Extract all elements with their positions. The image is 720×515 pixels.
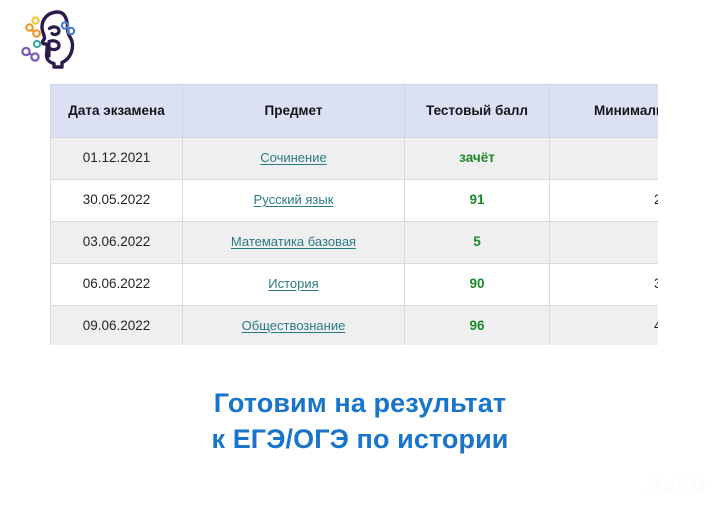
brand-logo bbox=[16, 6, 100, 72]
cell-min-score: 42 bbox=[550, 306, 659, 346]
subject-link[interactable]: Математика базовая bbox=[231, 234, 356, 249]
table-row: 03.06.2022 Математика базовая 5 3 bbox=[51, 222, 659, 264]
cell-subject[interactable]: Обществознание bbox=[183, 306, 405, 346]
column-header-subject: Предмет bbox=[183, 85, 405, 138]
column-header-test-score: Тестовый балл bbox=[405, 85, 550, 138]
cell-date: 09.06.2022 bbox=[51, 306, 183, 346]
promo-headline: Готовим на результат к ЕГЭ/ОГЭ по истори… bbox=[0, 386, 720, 457]
cell-test-score: 96 bbox=[405, 306, 550, 346]
promo-headline-line-2: к ЕГЭ/ОГЭ по истории bbox=[0, 422, 720, 458]
table-row: 01.12.2021 Сочинение зачёт bbox=[51, 138, 659, 180]
subject-link[interactable]: Русский язык bbox=[254, 192, 334, 207]
table-header-row: Дата экзамена Предмет Тестовый балл Мини… bbox=[51, 85, 659, 138]
subject-link[interactable]: История bbox=[268, 276, 318, 291]
cell-date: 30.05.2022 bbox=[51, 180, 183, 222]
avito-watermark-text: Avito bbox=[644, 468, 706, 499]
cell-date: 06.06.2022 bbox=[51, 264, 183, 306]
cell-min-score bbox=[550, 138, 659, 180]
table-row: 30.05.2022 Русский язык 91 24 bbox=[51, 180, 659, 222]
cell-subject[interactable]: Сочинение bbox=[183, 138, 405, 180]
cell-test-score: 90 bbox=[405, 264, 550, 306]
cell-subject[interactable]: Русский язык bbox=[183, 180, 405, 222]
cell-date: 01.12.2021 bbox=[51, 138, 183, 180]
cell-test-score: 5 bbox=[405, 222, 550, 264]
avito-logo-icon bbox=[610, 471, 640, 497]
cell-min-score: 32 bbox=[550, 264, 659, 306]
subject-link[interactable]: Обществознание bbox=[242, 318, 346, 333]
cell-min-score: 3 bbox=[550, 222, 659, 264]
exam-results-table: Дата экзамена Предмет Тестовый балл Мини… bbox=[50, 84, 658, 345]
subject-link[interactable]: Сочинение bbox=[260, 150, 326, 165]
avito-watermark: Avito bbox=[610, 468, 706, 499]
head-profile-logo-icon bbox=[16, 6, 100, 72]
cell-test-score: зачёт bbox=[405, 138, 550, 180]
column-header-date: Дата экзамена bbox=[51, 85, 183, 138]
cell-min-score: 24 bbox=[550, 180, 659, 222]
cell-subject[interactable]: Математика базовая bbox=[183, 222, 405, 264]
exam-results-table-container: Дата экзамена Предмет Тестовый балл Мини… bbox=[50, 84, 658, 345]
promo-headline-line-1: Готовим на результат bbox=[0, 386, 720, 422]
table-row: 06.06.2022 История 90 32 bbox=[51, 264, 659, 306]
cell-date: 03.06.2022 bbox=[51, 222, 183, 264]
cell-test-score: 91 bbox=[405, 180, 550, 222]
column-header-min-score: Минимальный балл bbox=[550, 85, 659, 138]
cell-subject[interactable]: История bbox=[183, 264, 405, 306]
table-row: 09.06.2022 Обществознание 96 42 bbox=[51, 306, 659, 346]
